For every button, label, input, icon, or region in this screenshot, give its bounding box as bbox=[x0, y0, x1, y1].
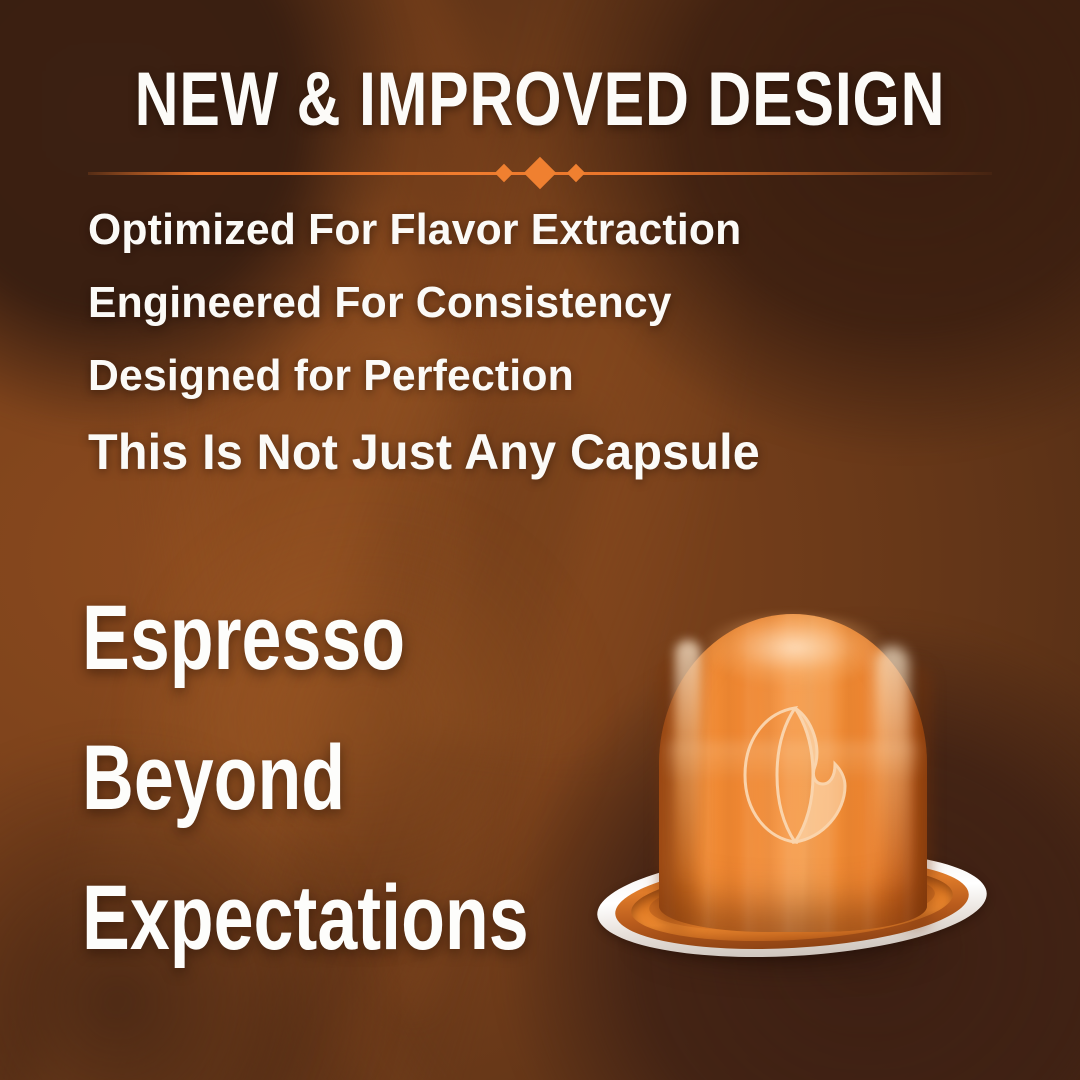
feature-item: Engineered For Consistency bbox=[88, 281, 864, 325]
feature-list: Optimized For Flavor Extraction Engineer… bbox=[88, 208, 888, 477]
diamond-icon-left bbox=[495, 164, 513, 182]
tagline-line: Expectations bbox=[82, 872, 519, 964]
diamond-icon-right bbox=[567, 164, 585, 182]
capsule-top-sheen bbox=[671, 614, 919, 710]
page-title: NEW & IMPROVED DESIGN bbox=[108, 62, 972, 138]
promo-poster: NEW & IMPROVED DESIGN Optimized For Flav… bbox=[0, 0, 1080, 1080]
product-image-coffee-capsule bbox=[575, 592, 1005, 992]
feature-item: Optimized For Flavor Extraction bbox=[88, 208, 864, 252]
coffee-bean-flame-logo-icon bbox=[737, 704, 853, 846]
feature-item-emphasis: This Is Not Just Any Capsule bbox=[88, 427, 864, 477]
feature-item: Designed for Perfection bbox=[88, 354, 864, 398]
tagline: Espresso Beyond Expectations bbox=[82, 592, 642, 964]
divider bbox=[88, 164, 992, 182]
tagline-line: Espresso bbox=[82, 592, 519, 684]
diamond-icon-center bbox=[524, 157, 557, 190]
tagline-line: Beyond bbox=[82, 732, 519, 824]
poster-content: NEW & IMPROVED DESIGN Optimized For Flav… bbox=[0, 0, 1080, 1080]
